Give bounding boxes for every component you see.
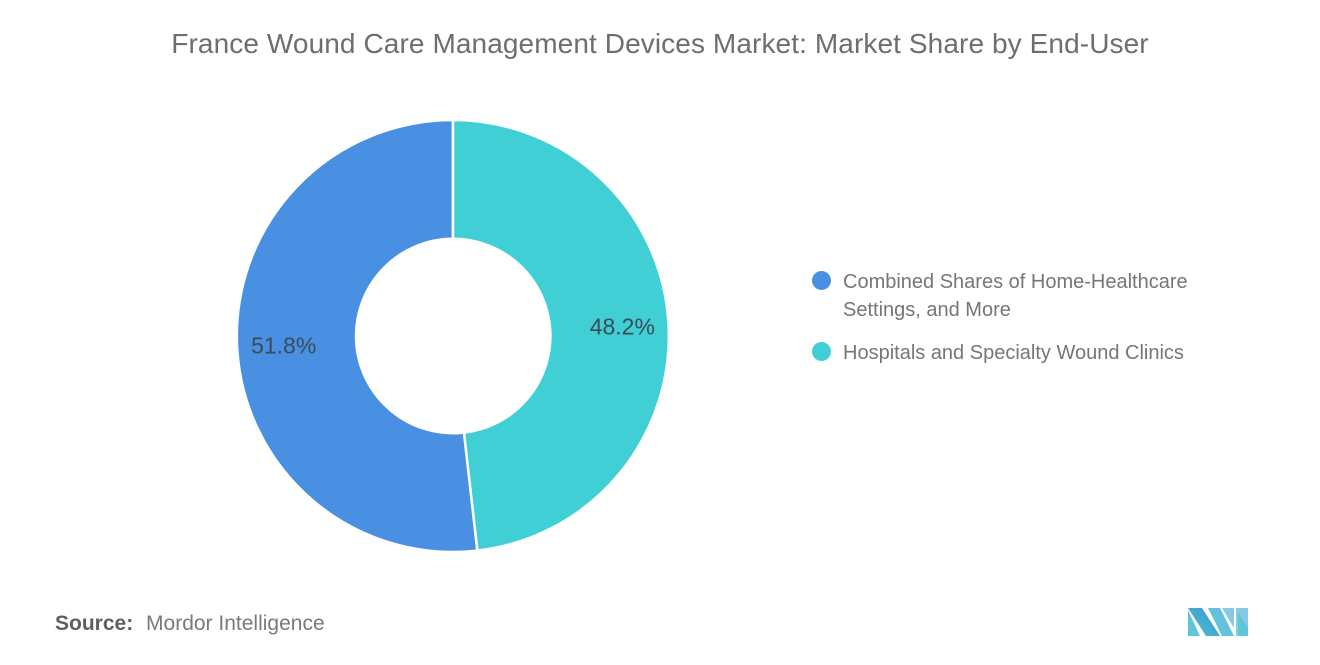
slice-label-combined-shares: 51.8% <box>251 333 316 359</box>
legend-item-label: Combined Shares of Home-Healthcare Setti… <box>843 268 1235 324</box>
legend-swatch-teal-circle-icon <box>812 342 831 361</box>
donut-chart: 51.8% 48.2% <box>237 120 669 552</box>
page-title: France Wound Care Management Devices Mar… <box>0 28 1320 60</box>
source-label: Source: <box>55 612 133 635</box>
legend-item-hospitals-specialty-wound-clinics[interactable]: Hospitals and Specialty Wound Clinics <box>812 339 1252 367</box>
legend-item-label: Hospitals and Specialty Wound Clinics <box>843 339 1184 367</box>
slice-label-hospitals-specialty: 48.2% <box>590 313 655 339</box>
donut-chart-svg: 51.8% 48.2% <box>237 120 669 552</box>
chart-legend: Combined Shares of Home-Healthcare Setti… <box>812 268 1252 382</box>
legend-swatch-blue-circle-icon <box>812 271 831 290</box>
source-value: Mordor Intelligence <box>146 612 325 635</box>
mordor-intelligence-logo-icon <box>1186 598 1252 636</box>
legend-item-combined-shares-home-healthcare[interactable]: Combined Shares of Home-Healthcare Setti… <box>812 268 1252 324</box>
source-attribution: Source: Mordor Intelligence <box>55 612 325 636</box>
